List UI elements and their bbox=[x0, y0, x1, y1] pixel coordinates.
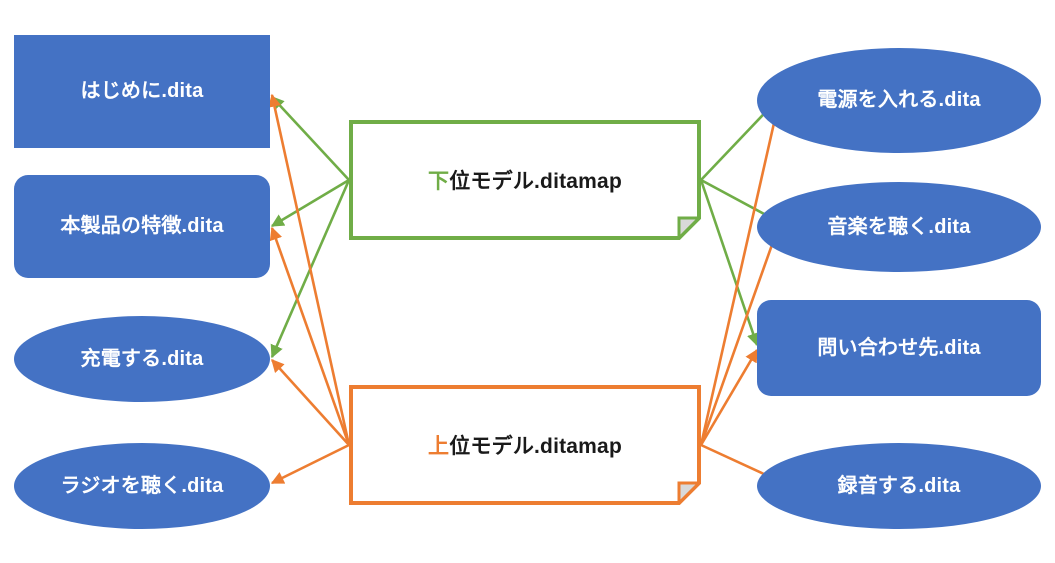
topic-node-dengen[interactable]: 電源を入れる.dita bbox=[757, 48, 1041, 153]
topic-node-toiawase[interactable]: 問い合わせ先.dita bbox=[757, 300, 1041, 396]
map-accent-char: 下 bbox=[428, 170, 449, 193]
map-label: 下位モデル.ditamap bbox=[428, 165, 622, 195]
edge-child-map-to-t-hajimeni bbox=[272, 97, 349, 180]
topic-node-radio[interactable]: ラジオを聴く.dita bbox=[14, 443, 270, 529]
map-rest-label: 位モデル.ditamap bbox=[449, 435, 622, 458]
map-label: 上位モデル.ditamap bbox=[428, 430, 622, 460]
topic-label: 充電する.dita bbox=[81, 347, 204, 372]
map-accent-char: 上 bbox=[428, 435, 449, 458]
topic-label: 電源を入れる.dita bbox=[817, 88, 980, 113]
topic-node-juden[interactable]: 充電する.dita bbox=[14, 316, 270, 402]
topic-label: はじめに.dita bbox=[81, 79, 204, 104]
topic-label: 本製品の特徴.dita bbox=[60, 214, 223, 239]
edge-parent-map-to-t-tokucho bbox=[272, 228, 349, 445]
topic-label: 録音する.dita bbox=[838, 474, 961, 499]
edge-parent-map-to-t-juden bbox=[272, 360, 349, 445]
topic-node-hajimeni[interactable]: はじめに.dita bbox=[14, 35, 270, 148]
topic-node-ongaku[interactable]: 音楽を聴く.dita bbox=[757, 182, 1041, 272]
topic-node-rokuon[interactable]: 録音する.dita bbox=[757, 443, 1041, 529]
edge-child-map-to-t-tokucho bbox=[272, 180, 349, 226]
diagram-canvas: はじめに.dita 本製品の特徴.dita 充電する.dita ラジオを聴く.d… bbox=[0, 0, 1055, 563]
topic-label: ラジオを聴く.dita bbox=[61, 474, 224, 499]
topic-node-tokucho[interactable]: 本製品の特徴.dita bbox=[14, 175, 270, 278]
topic-label: 音楽を聴く.dita bbox=[827, 215, 970, 240]
map-node-child[interactable]: 下位モデル.ditamap bbox=[349, 120, 701, 240]
map-rest-label: 位モデル.ditamap bbox=[449, 170, 622, 193]
edge-parent-map-to-t-hajimeni bbox=[272, 95, 349, 445]
edge-parent-map-to-t-radio bbox=[272, 445, 349, 483]
map-node-parent[interactable]: 上位モデル.ditamap bbox=[349, 385, 701, 505]
topic-label: 問い合わせ先.dita bbox=[817, 336, 980, 361]
